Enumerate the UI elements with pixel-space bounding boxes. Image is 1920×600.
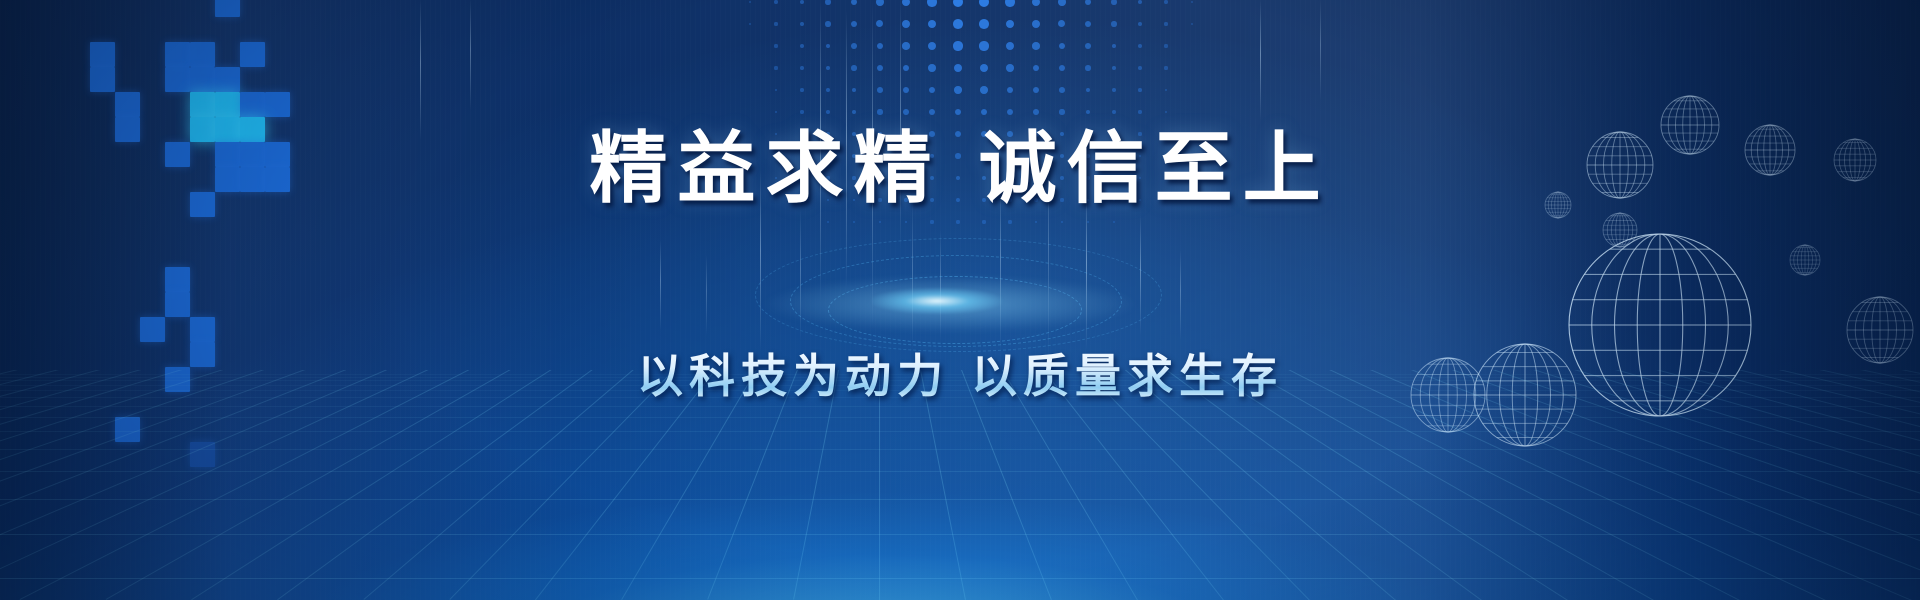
vignette-overlay <box>0 0 1920 600</box>
page-title: 精益求精 诚信至上 <box>0 106 1920 218</box>
page-subtitle: 以科技为动力 以质量求生存 <box>0 340 1920 406</box>
banner-stage: 精益求精 诚信至上 以科技为动力 以质量求生存 <box>0 0 1920 600</box>
